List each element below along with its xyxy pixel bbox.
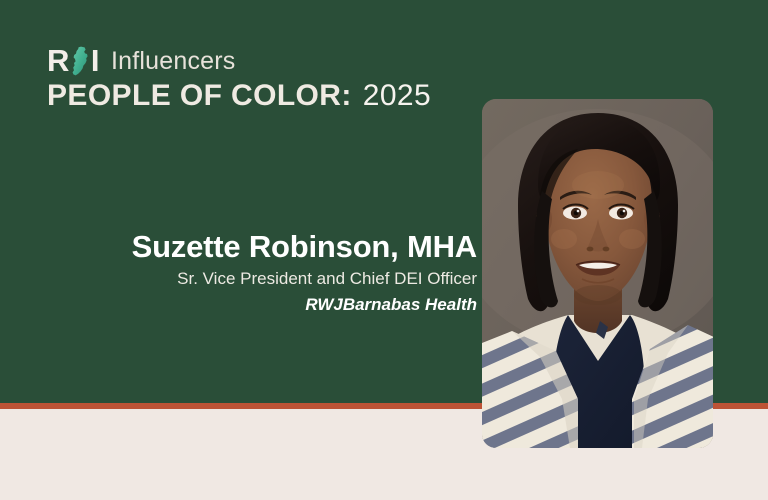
roi-influencers-logo: R I Influencers [47,44,236,78]
people-of-color-honoree-card: R I Influencers PEOPLE OF COLOR: [0,0,768,500]
headline-year-text: 2025 [363,79,431,113]
roi-logo-mark: R I [47,46,99,76]
honoree-portrait-photo [482,99,713,448]
page-title: PEOPLE OF COLOR: 2025 [47,79,431,113]
honoree-details: Suzette Robinson, MHA Sr. Vice President… [0,228,477,318]
honoree-organization: RWJBarnabas Health [0,292,477,318]
logo-letter-i-text: I [91,46,99,76]
headline-primary-text: PEOPLE OF COLOR: [47,79,352,113]
logo-wordmark-influencers: Influencers [111,46,236,76]
new-jersey-state-icon [70,46,90,76]
honoree-name: Suzette Robinson, MHA [0,228,477,266]
honoree-job-title: Sr. Vice President and Chief DEI Officer [0,266,477,292]
logo-letter-r-text: R [47,46,69,76]
